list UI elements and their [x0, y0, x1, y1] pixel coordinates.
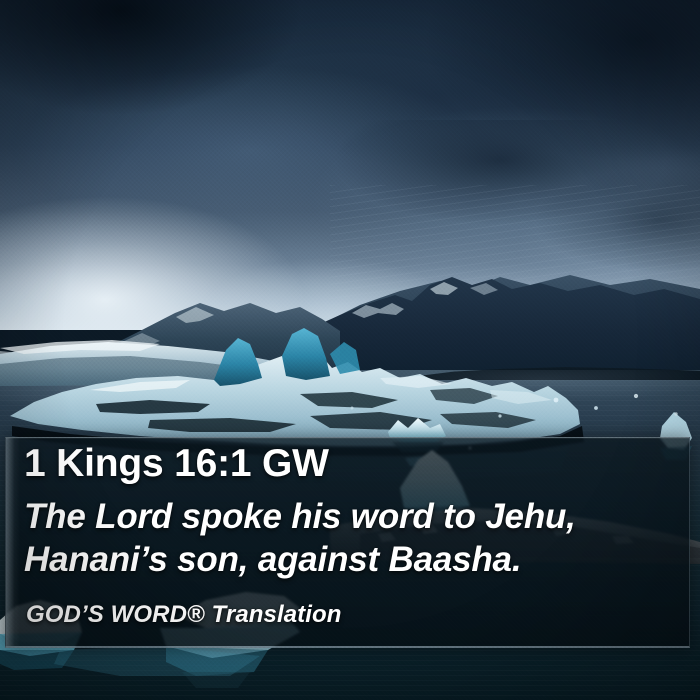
panel-left-highlight: [6, 438, 20, 646]
verse-text-line-2: Hanani’s son, against Baasha.: [24, 538, 664, 581]
translation-attribution: GOD’S WORD® Translation: [26, 601, 342, 629]
verse-text-line-1: The Lord spoke his word to Jehu,: [24, 495, 664, 538]
verse-text: The Lord spoke his word to Jehu, Hanani’…: [24, 495, 664, 581]
verse-image-card: 1 Kings 16:1 GW The Lord spoke his word …: [0, 0, 700, 700]
verse-reference: 1 Kings 16:1 GW: [24, 443, 329, 484]
